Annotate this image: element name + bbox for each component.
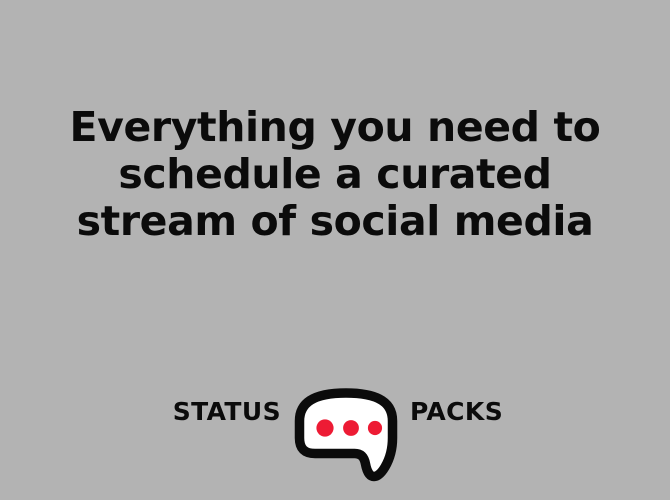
headline-line-1: Everything you need to	[0, 104, 670, 151]
speech-bubble-dot-1	[316, 419, 333, 436]
headline-line-2: schedule a curated	[0, 151, 670, 198]
speech-bubble-dot-2	[343, 420, 359, 436]
speech-bubble-icon	[289, 386, 403, 484]
logo-word-status: STATUS	[140, 386, 281, 438]
headline-line-3: stream of social media	[0, 198, 670, 245]
speech-bubble-dot-3	[368, 421, 382, 435]
slide-canvas: Everything you need to schedule a curate…	[0, 0, 670, 500]
page-title: Everything you need to schedule a curate…	[0, 104, 670, 245]
speech-bubble-outline	[300, 393, 393, 477]
logo-word-packs: PACKS	[410, 386, 551, 438]
brand-logo: STATUS PACKS	[0, 386, 670, 486]
